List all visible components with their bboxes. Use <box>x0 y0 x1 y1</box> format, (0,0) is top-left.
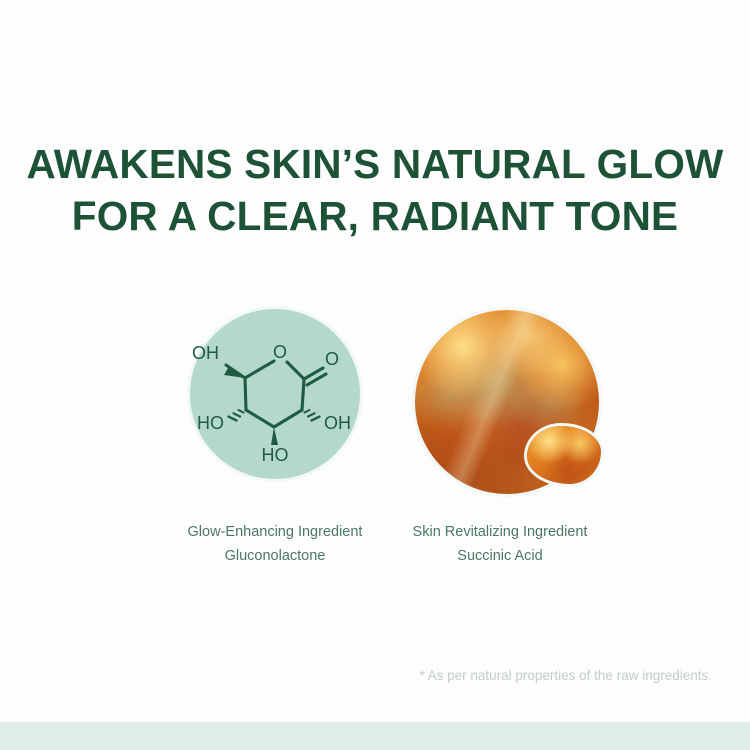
gluconolactone-molecule-icon: OH O O HO HO OH <box>190 309 360 479</box>
ingredient-name: Succinic Acid <box>355 544 645 568</box>
amber-resin-image <box>412 308 604 504</box>
amber-nugget-overlay <box>527 426 601 484</box>
ingredient-caption-succinic-acid: Skin Revitalizing Ingredient Succinic Ac… <box>355 520 645 568</box>
molecule-label-ring-oxygen: O <box>273 342 287 362</box>
molecule-label-top-left: OH <box>192 343 219 363</box>
molecule-label-bottom-center: HO <box>262 445 289 465</box>
ingredient-visual-succinic-acid <box>355 308 645 504</box>
footnote-text: * As per natural properties of the raw i… <box>419 668 712 683</box>
molecule-label-carbonyl-oxygen: O <box>325 349 339 369</box>
headline-line-2: FOR A CLEAR, RADIANT TONE <box>0 190 750 242</box>
headline-line-1: AWAKENS SKIN’S NATURAL GLOW <box>0 138 750 190</box>
ingredient-list: OH O O HO HO OH Glow-Enhancing Ingredien… <box>0 308 750 578</box>
ingredient-card-succinic-acid: Skin Revitalizing Ingredient Succinic Ac… <box>355 308 645 504</box>
bottom-color-band <box>0 722 750 750</box>
poster-canvas: AWAKENS SKIN’S NATURAL GLOW FOR A CLEAR,… <box>0 0 750 750</box>
page-title: AWAKENS SKIN’S NATURAL GLOW FOR A CLEAR,… <box>0 138 750 242</box>
molecule-label-bottom-right: OH <box>324 413 351 433</box>
molecule-label-bottom-left: HO <box>197 413 224 433</box>
ingredient-role: Skin Revitalizing Ingredient <box>355 520 645 544</box>
